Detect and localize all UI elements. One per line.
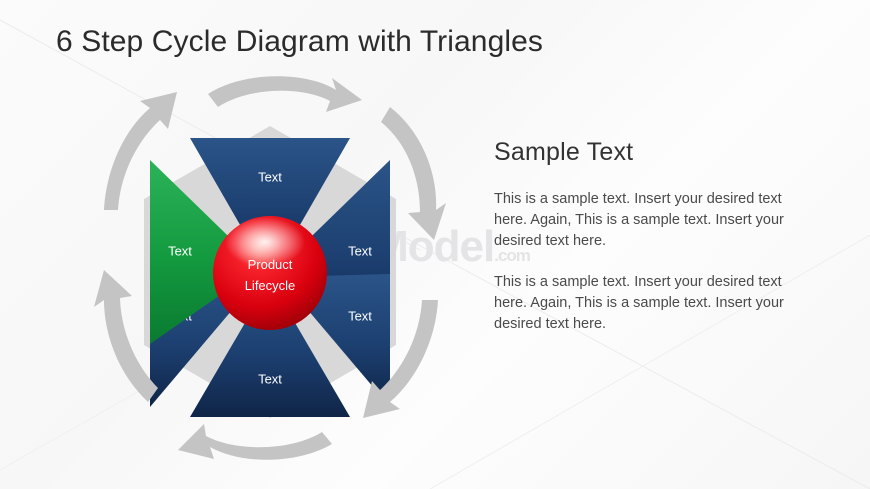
- text-panel: Sample Text This is a sample text. Inser…: [494, 138, 804, 335]
- step-label: Text: [258, 169, 282, 184]
- step-label: Text: [348, 308, 372, 323]
- center-label-line2: Lifecycle: [245, 278, 296, 293]
- arrow-bottom: [178, 424, 332, 460]
- step-label: Text: [168, 243, 192, 258]
- panel-title: Sample Text: [494, 138, 804, 167]
- step-label: Text: [258, 371, 282, 386]
- slide-canvas: 6 Step Cycle Diagram with Triangles Slid…: [0, 0, 870, 489]
- cycle-diagram: Text Text Text Text Text: [60, 62, 480, 472]
- step-label: Text: [348, 243, 372, 258]
- center-label-line1: Product: [248, 257, 293, 272]
- page-title: 6 Step Cycle Diagram with Triangles: [56, 25, 543, 59]
- panel-paragraph: This is a sample text. Insert your desir…: [494, 189, 804, 252]
- center-sphere[interactable]: Product Lifecycle: [213, 216, 327, 330]
- arrow-top: [208, 76, 362, 112]
- panel-paragraph: This is a sample text. Insert your desir…: [494, 272, 804, 335]
